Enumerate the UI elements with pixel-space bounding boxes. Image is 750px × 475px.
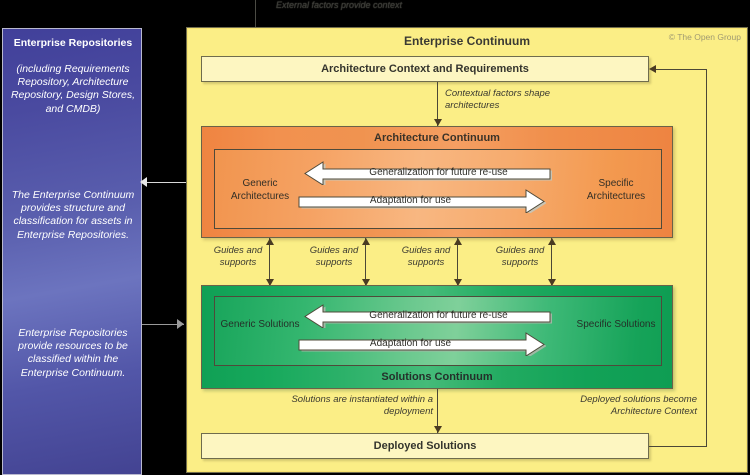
enterprise-continuum-panel: Enterprise Continuum © The Open Group Ar… <box>186 27 748 473</box>
specific-architectures-label: Specific Architectures <box>573 178 659 203</box>
architecture-adaptation-arrow: Adaptation for use <box>297 188 546 213</box>
guides-supports-up-head-2 <box>362 238 370 245</box>
guides-supports-note-2: Guides and supports <box>295 245 373 269</box>
guides-supports-up-head-3 <box>454 238 462 245</box>
feedback-loop-vertical-segment <box>706 69 707 447</box>
enterprise-repositories-subtitle: (including Requirements Repository, Arch… <box>7 63 139 116</box>
guides-supports-note-1: Guides and supports <box>199 245 277 269</box>
solutions-continuum-title: Solutions Continuum <box>202 371 672 383</box>
architecture-continuum-title: Architecture Continuum <box>202 132 672 144</box>
enterprise-repositories-resources-note: Enterprise Repositories provide resource… <box>7 327 139 380</box>
feedback-note: Deployed solutions become Architecture C… <box>539 394 697 418</box>
solutions-generalization-arrow: Generalization for future re-use <box>303 303 552 328</box>
feedback-loop-top-segment <box>655 69 707 70</box>
architecture-generalization-arrow: Generalization for future re-use <box>303 160 552 185</box>
architecture-generalization-label: Generalization for future re-use <box>303 160 552 185</box>
guides-supports-note-3: Guides and supports <box>387 245 465 269</box>
deployed-solutions-box: Deployed Solutions <box>201 433 649 459</box>
architecture-context-and-requirements-box: Architecture Context and Requirements <box>201 56 649 82</box>
instantiated-note: Solutions are instantiated within a depl… <box>285 394 433 418</box>
copyright-notice: © The Open Group <box>669 32 741 42</box>
specific-solutions-label: Specific Solutions <box>573 319 659 332</box>
enterprise-repositories-panel: Enterprise Repositories (including Requi… <box>2 28 142 475</box>
enterprise-continuum-title: Enterprise Continuum <box>187 34 747 48</box>
solutions-adaptation-arrow: Adaptation for use <box>297 331 546 356</box>
deployed-solutions-label: Deployed Solutions <box>374 440 477 452</box>
generic-solutions-label: Generic Solutions <box>217 319 303 332</box>
feedback-loop-arrow-head <box>649 65 656 73</box>
connector-repositories-to-continuum-arrow-head <box>177 319 184 329</box>
solutions-continuum-inner: Generic Solutions Specific Solutions Gen… <box>214 296 662 366</box>
contextual-factors-arrow-head <box>434 119 442 126</box>
solutions-generalization-label: Generalization for future re-use <box>303 303 552 328</box>
solutions-adaptation-label: Adaptation for use <box>297 331 546 356</box>
contextual-factors-note: Contextual factors shape architectures <box>445 88 575 112</box>
architecture-context-and-requirements-label: Architecture Context and Requirements <box>321 63 529 75</box>
guides-supports-note-4: Guides and supports <box>481 245 559 269</box>
solutions-continuum-band: Generic Solutions Specific Solutions Gen… <box>201 285 673 389</box>
enterprise-repositories-title: Enterprise Repositories <box>7 37 139 50</box>
guides-supports-up-head-1 <box>266 238 274 245</box>
external-factors-label: External factors provide context <box>276 0 406 11</box>
connector-continuum-to-repositories <box>146 182 186 183</box>
architecture-continuum-band: Architecture Continuum Generic Architect… <box>201 126 673 238</box>
instantiated-arrow-head <box>434 426 442 433</box>
enterprise-continuum-structure-note: The Enterprise Continuum provides struct… <box>7 189 139 242</box>
connector-continuum-to-repositories-arrow-head <box>140 177 147 187</box>
feedback-loop-bottom-segment <box>649 446 707 447</box>
generic-architectures-label: Generic Architectures <box>217 178 303 203</box>
guides-supports-up-head-4 <box>548 238 556 245</box>
diagram-canvas: External factors provide context Enterpr… <box>0 0 750 475</box>
architecture-adaptation-label: Adaptation for use <box>297 188 546 213</box>
architecture-continuum-inner: Generic Architectures Specific Architect… <box>214 149 662 229</box>
